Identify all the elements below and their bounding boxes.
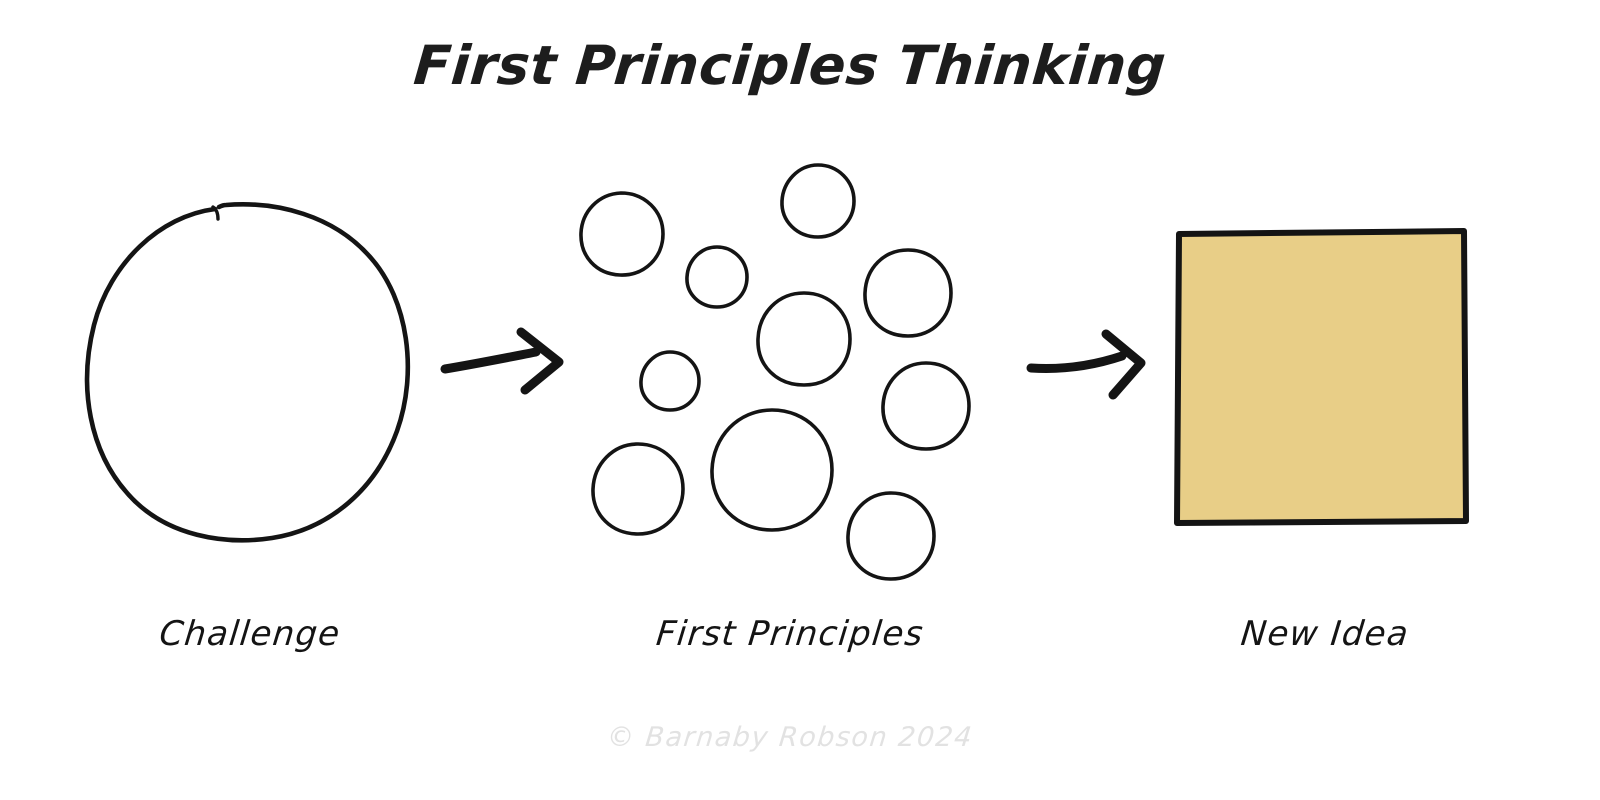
- arrow-1-head: [521, 332, 559, 390]
- cluster-circle-7: [883, 363, 969, 449]
- shape-first-principles-cluster[interactable]: [581, 165, 969, 579]
- stage-label-first-principles: First Principles: [583, 614, 997, 654]
- stage-label-challenge: Challenge: [68, 614, 432, 654]
- cluster-circle-10: [848, 493, 934, 579]
- diagram-drawing-surface: [0, 0, 1600, 800]
- arrow-first-principles-to-new-idea[interactable]: [1031, 334, 1141, 395]
- page-title: First Principles Thinking: [0, 34, 1583, 97]
- stage-label-new-idea: New Idea: [1148, 614, 1502, 654]
- cluster-circle-1: [581, 193, 663, 275]
- cluster-circle-3: [687, 247, 747, 307]
- arrow-challenge-to-first-principles[interactable]: [445, 332, 559, 390]
- new-idea-square-fill: [1179, 231, 1464, 521]
- cluster-circle-8: [712, 410, 832, 530]
- shape-new-idea-square[interactable]: [1177, 231, 1466, 523]
- arrow-1-shaft: [445, 352, 536, 369]
- copyright-notice: © Barnaby Robson 2024: [0, 722, 1582, 753]
- challenge-circle-outline: [87, 204, 408, 540]
- cluster-circle-9: [593, 444, 683, 534]
- shape-challenge-circle[interactable]: [87, 204, 408, 540]
- cluster-circle-4: [865, 250, 951, 336]
- arrow-2-head: [1106, 334, 1141, 395]
- cluster-circle-2: [782, 165, 854, 237]
- arrow-2-shaft: [1031, 356, 1122, 369]
- cluster-circle-5: [758, 293, 850, 385]
- diagram-canvas: First Principles Thinking Challenge Firs…: [0, 0, 1600, 800]
- cluster-circle-6: [641, 352, 699, 410]
